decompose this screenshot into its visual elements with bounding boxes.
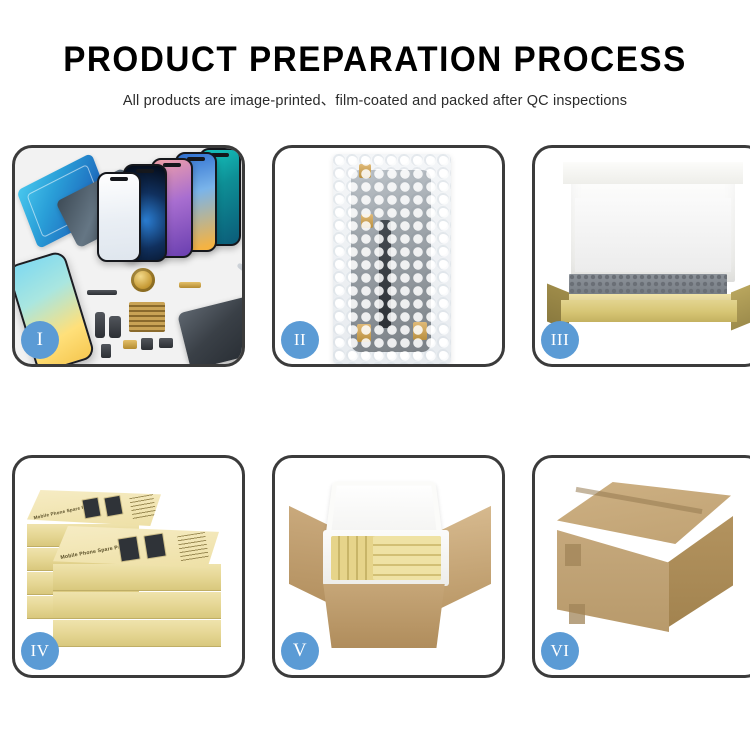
header: PRODUCT PREPARATION PROCESS All products… <box>0 0 750 110</box>
retail-boxes-inside-second-row <box>373 536 441 580</box>
process-step-panel-6: VI <box>532 455 750 678</box>
page-subtitle: All products are image-printed、film-coat… <box>0 89 750 110</box>
phone-notch-icon <box>163 163 181 167</box>
box-front-panel <box>561 300 737 322</box>
logic-board-part <box>129 302 165 332</box>
component-part <box>141 338 153 350</box>
component-part <box>159 338 173 348</box>
box-spec-lines <box>177 532 209 562</box>
step-badge-5: V <box>281 632 319 670</box>
phone-notch-icon <box>136 169 154 173</box>
box-product-image <box>103 495 123 518</box>
component-part <box>109 316 121 338</box>
step-badge-4: IV <box>21 632 59 670</box>
phone-display-1 <box>97 172 141 262</box>
component-part <box>179 282 201 288</box>
tape-tab <box>361 214 373 228</box>
box-product-image <box>143 533 167 560</box>
component-part <box>95 312 105 338</box>
retail-box-top-rear: Mobile Phone Spare Parts <box>27 490 161 526</box>
component-part <box>123 340 137 349</box>
process-step-grid: I II <box>12 145 738 678</box>
process-step-panel-3: III <box>532 145 750 367</box>
step-badge-3: III <box>541 321 579 359</box>
step-badge-2: II <box>281 321 319 359</box>
step-badge-6: VI <box>541 632 579 670</box>
carton-tape-patch <box>569 604 585 624</box>
component-part <box>101 344 111 358</box>
box-product-image <box>81 497 101 520</box>
page-title: PRODUCT PREPARATION PROCESS <box>19 42 732 79</box>
retail-box <box>53 592 221 618</box>
flex-cable <box>379 220 391 328</box>
phone-components-group <box>87 268 242 364</box>
process-step-panel-1: I <box>12 145 245 367</box>
foam-sheet-upper <box>575 198 731 272</box>
step-badge-1: I <box>21 321 59 359</box>
phone-back-housing <box>177 296 242 364</box>
tape-tab <box>413 322 427 340</box>
carton-tape-patch <box>565 544 581 566</box>
process-step-panel-4: Mobile Phone Spare Parts Mobile Phone Sp… <box>12 455 245 678</box>
phone-notch-icon <box>110 177 128 181</box>
speaker-coil-part <box>131 268 155 292</box>
repair-tool <box>236 262 242 294</box>
retail-box <box>53 564 221 590</box>
process-step-panel-5: V <box>272 455 505 678</box>
box-spec-lines <box>129 494 156 520</box>
product-preparation-infographic: PRODUCT PREPARATION PROCESS All products… <box>0 0 750 750</box>
process-step-panel-2: II <box>272 145 505 367</box>
retail-box <box>53 620 221 646</box>
retail-box-top-front: Mobile Phone Spare Parts <box>53 526 219 568</box>
retail-box-stack: Mobile Phone Spare Parts Mobile Phone Sp… <box>19 476 237 662</box>
box-product-image <box>117 536 141 563</box>
component-part <box>87 290 117 295</box>
tape-tab <box>359 164 371 178</box>
carton-front-panel <box>315 584 453 648</box>
tape-tab <box>357 324 371 342</box>
